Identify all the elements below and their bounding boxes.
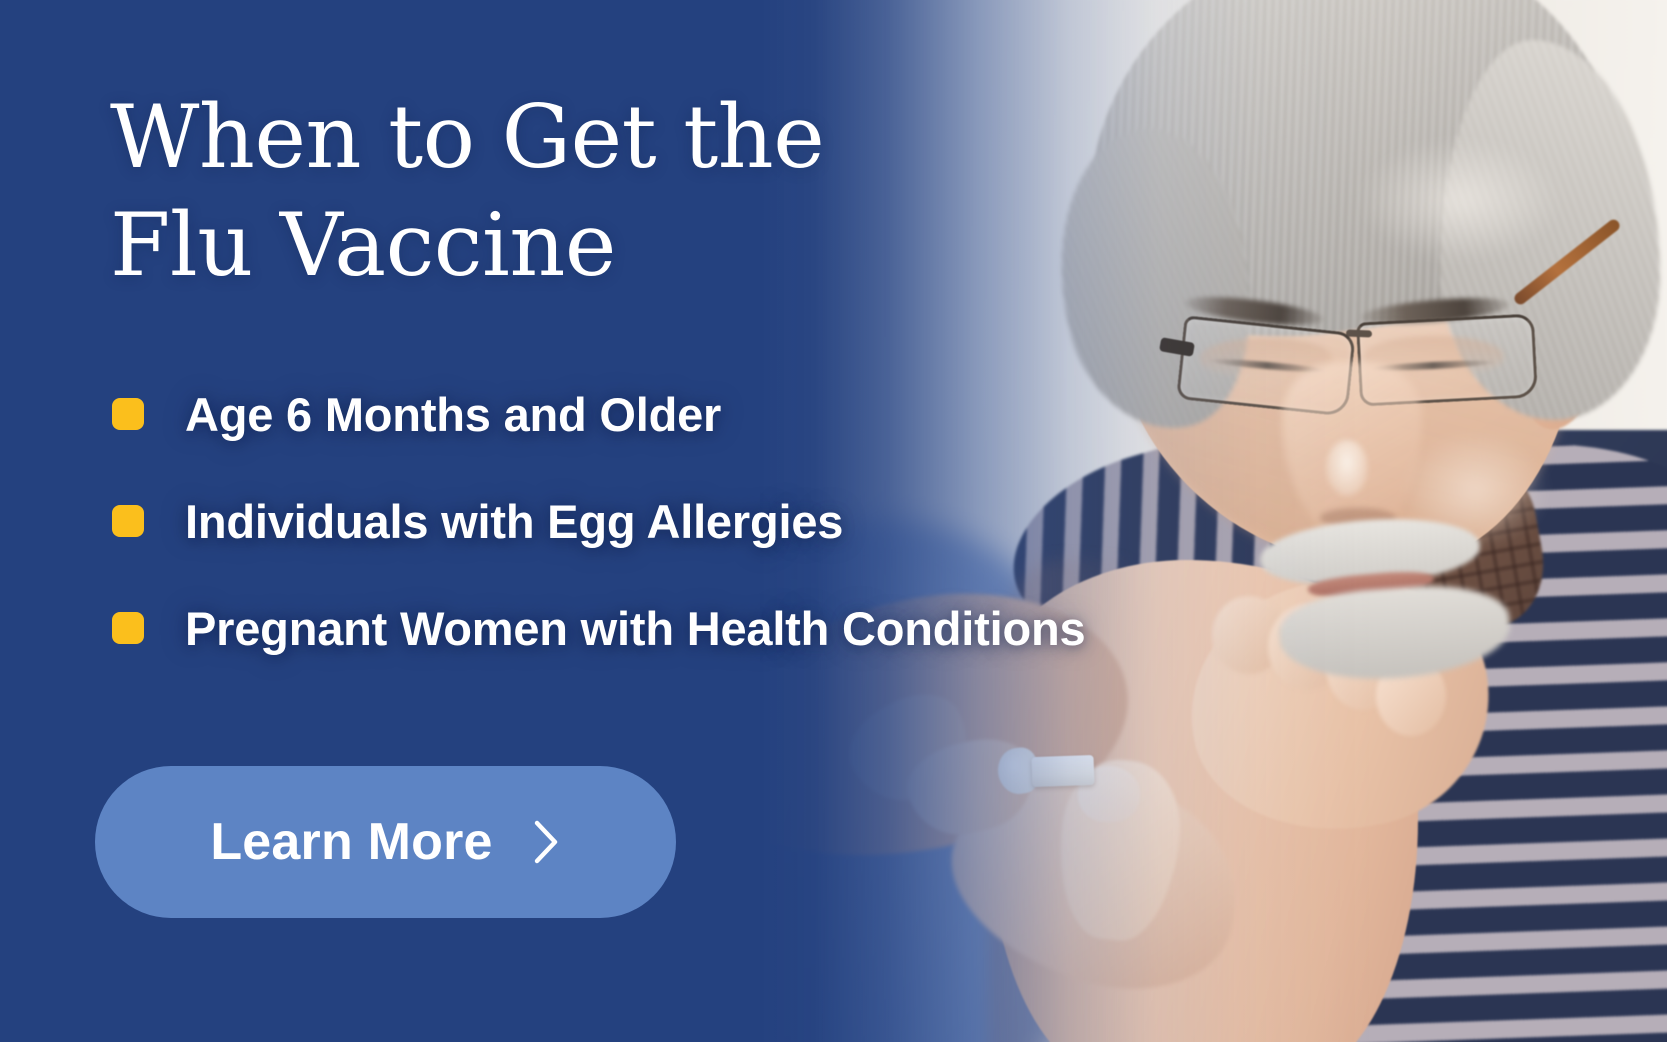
list-item: Individuals with Egg Allergies — [112, 499, 1085, 543]
square-bullet-icon — [112, 612, 144, 644]
eligibility-list: Age 6 Months and Older Individuals with … — [112, 392, 1085, 713]
list-item-label: Pregnant Women with Health Conditions — [185, 605, 1085, 652]
list-item: Age 6 Months and Older — [112, 392, 1085, 436]
list-item-label: Individuals with Egg Allergies — [185, 498, 843, 545]
square-bullet-icon — [112, 398, 144, 430]
flu-vaccine-banner: When to Get the Flu Vaccine Age 6 Months… — [0, 0, 1667, 1042]
square-bullet-icon — [112, 505, 144, 537]
list-item-label: Age 6 Months and Older — [185, 391, 721, 438]
learn-more-button[interactable]: Learn More — [95, 766, 676, 918]
headline-line-1: When to Get the — [110, 84, 870, 192]
banner-content: When to Get the Flu Vaccine Age 6 Months… — [0, 0, 1300, 1042]
headline-line-2: Flu Vaccine — [110, 192, 870, 300]
list-item: Pregnant Women with Health Conditions — [112, 606, 1085, 650]
chevron-right-icon — [531, 819, 561, 865]
page-title: When to Get the Flu Vaccine — [110, 84, 870, 300]
learn-more-label: Learn More — [210, 816, 492, 868]
